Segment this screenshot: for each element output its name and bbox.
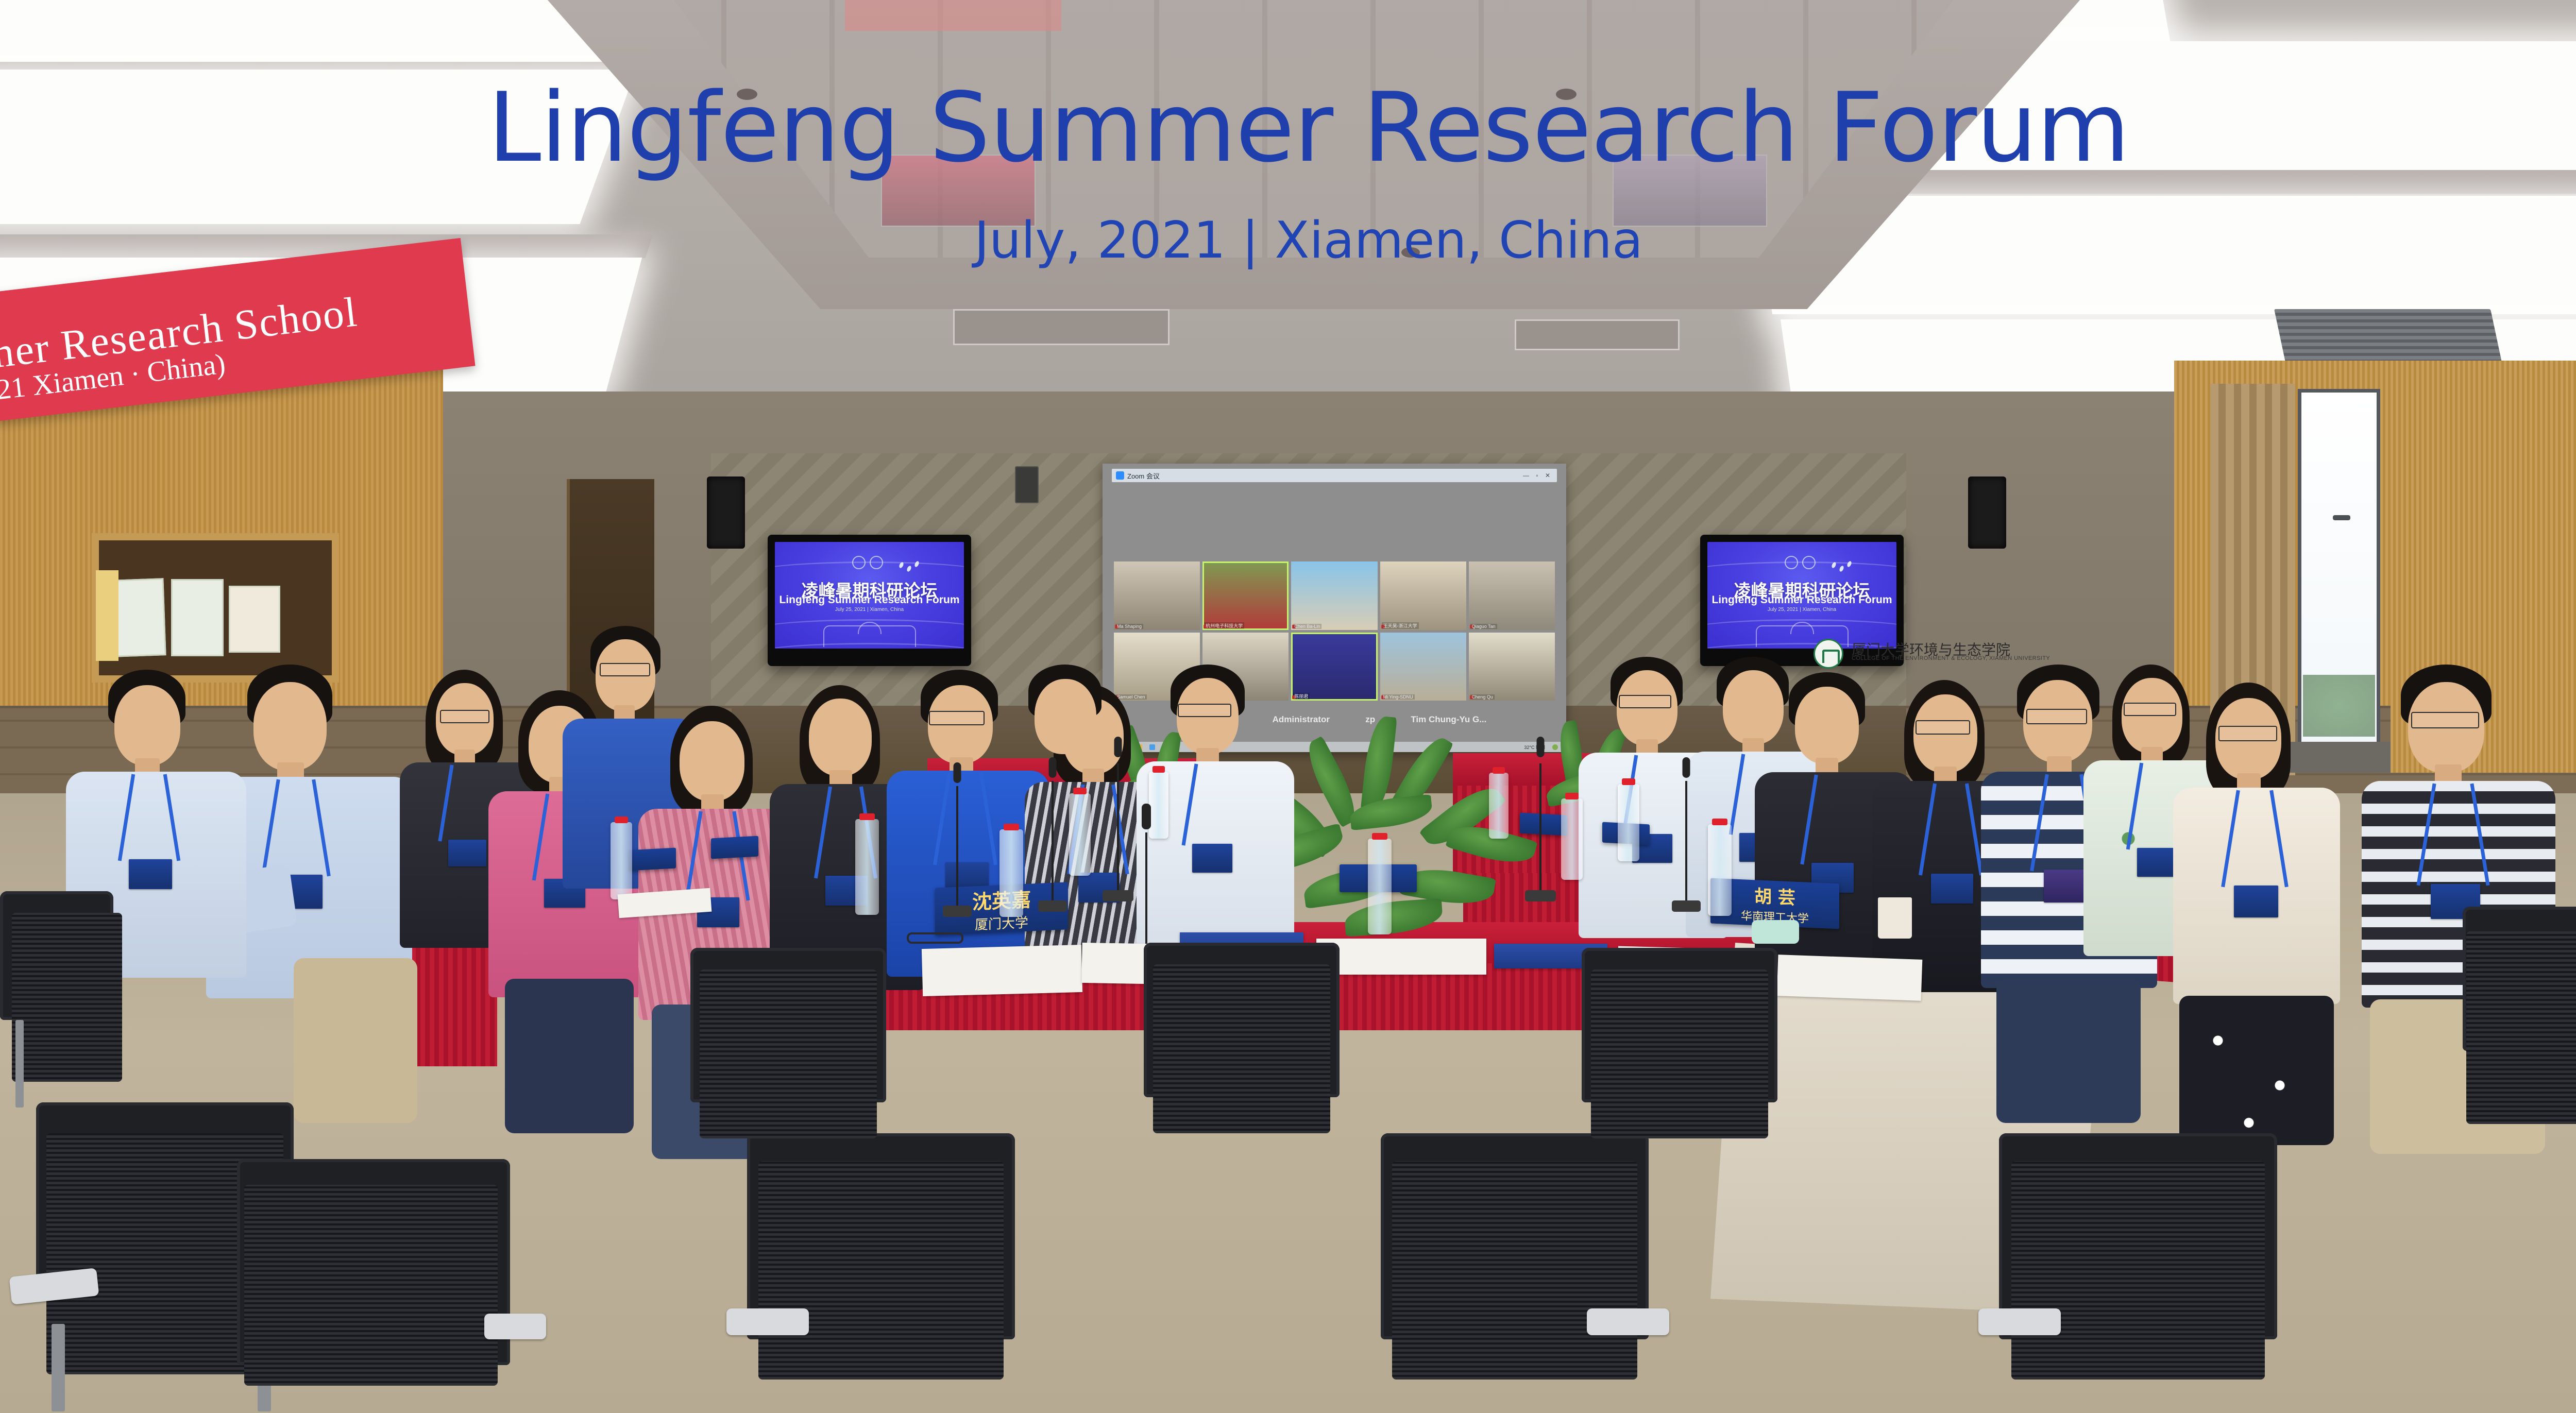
water-bottle xyxy=(1368,839,1392,934)
trophy-display-case xyxy=(92,533,339,683)
participant-tile[interactable]: Mi Ying-SDNU xyxy=(1380,633,1466,701)
glasses-icon xyxy=(2411,712,2479,728)
foreground-chair[interactable] xyxy=(1365,1133,1664,1413)
foreground-chair[interactable] xyxy=(732,1133,1030,1413)
tv-display-left: 凌峰暑期科研论坛 Lingfeng Summer Research Forum … xyxy=(768,535,971,666)
water-bottle xyxy=(1618,784,1639,861)
participant-name: Ma Shaping xyxy=(1115,624,1143,629)
mid-row-chair[interactable] xyxy=(1571,948,1788,1164)
page-title: Lingfeng Summer Research Forum xyxy=(0,80,2576,176)
glasses-icon xyxy=(929,711,985,725)
zoom-window-titlebar[interactable]: Zoom 会议 — ▫ ✕ xyxy=(1112,469,1557,482)
participant-tile[interactable]: Cheng Qu xyxy=(1469,633,1555,701)
participant-tile[interactable]: Chen Ba-Lin xyxy=(1291,561,1377,630)
tv-title-en: Lingfeng Summer Research Forum xyxy=(1707,594,1896,606)
participant-name: Chen Ba-Lin xyxy=(1293,624,1321,629)
participant-badge xyxy=(1931,874,1973,904)
foreground-chair[interactable] xyxy=(216,1159,526,1413)
side-chair[interactable] xyxy=(2452,907,2576,1154)
water-bottle xyxy=(611,822,632,899)
water-bottle xyxy=(855,819,879,915)
tv-slide-left: 凌峰暑期科研论坛 Lingfeng Summer Research Forum … xyxy=(775,542,964,649)
water-bottle xyxy=(1069,793,1091,876)
glasses-icon xyxy=(440,710,489,723)
participant-name: Mi Ying-SDNU xyxy=(1382,694,1415,700)
tv-date-line: July 25, 2021 | Xiamen, China xyxy=(775,607,964,612)
participant-badge xyxy=(2234,886,2278,917)
wall-sign-english: COLLEGE OF THE ENVIRONMENT & ECOLOGY, XI… xyxy=(1852,655,2050,661)
coffee-cup xyxy=(1878,897,1912,939)
zoom-window-title: Zoom 会议 xyxy=(1127,471,1160,481)
eyeglasses-on-table xyxy=(907,932,963,944)
microphone[interactable] xyxy=(1525,737,1556,901)
participant-tile[interactable]: 王天昊-浙江大学 xyxy=(1380,561,1466,630)
tv-slide-right: 凌峰暑期科研论坛 Lingfeng Summer Research Forum … xyxy=(1707,542,1896,649)
participant-name: Qiaguo Tan xyxy=(1470,624,1497,629)
microphone[interactable] xyxy=(1672,757,1701,912)
microphone[interactable] xyxy=(943,762,972,917)
participant-name: Cheng Qu xyxy=(1470,694,1495,700)
glasses-icon xyxy=(1916,720,1970,735)
tv-title-en: Lingfeng Summer Research Forum xyxy=(775,594,964,606)
participant-badge xyxy=(129,859,172,889)
tv-date-line: July 25, 2021 | Xiamen, China xyxy=(1707,607,1896,612)
participant-tile[interactable]: Ma Shaping xyxy=(1114,561,1200,630)
participant-tile[interactable]: Qiaguo Tan xyxy=(1469,561,1555,630)
slide-logo-icon xyxy=(870,556,883,569)
name-plate xyxy=(711,836,758,859)
document-sheet xyxy=(1777,955,1923,1001)
glasses-icon xyxy=(600,663,650,676)
foreground-chair[interactable] xyxy=(1984,1133,2293,1413)
window-handle-icon[interactable] xyxy=(2333,515,2350,520)
participant-tile[interactable]: 陈丽君 xyxy=(1291,633,1377,701)
mid-row-chair[interactable] xyxy=(1133,943,1350,1159)
glasses-icon xyxy=(2218,726,2277,741)
name-plate-name: 胡 芸 xyxy=(1754,882,1795,909)
window-controls[interactable]: — ▫ ✕ xyxy=(1523,472,1553,479)
zoom-app-icon xyxy=(1116,471,1124,480)
glasses-icon xyxy=(2026,709,2087,724)
slide-logo-icon xyxy=(1802,556,1816,569)
participant-badge xyxy=(448,840,486,866)
wall-speaker-right xyxy=(1968,476,2006,549)
page-subtitle: July, 2021 | Xiamen, China xyxy=(0,215,2576,266)
participant-tile[interactable]: 杭州电子科技大学 xyxy=(1202,561,1289,630)
participant-name: 王天昊-浙江大学 xyxy=(1382,622,1419,629)
wall-speaker-left xyxy=(707,476,745,549)
water-bottle xyxy=(1708,824,1732,916)
person-seated xyxy=(2169,683,2344,1146)
mid-row-chair[interactable] xyxy=(680,948,896,1164)
glasses-icon xyxy=(2124,703,2176,716)
glasses-icon xyxy=(1619,695,1671,708)
name-plate xyxy=(629,848,676,871)
participant-badge xyxy=(1192,844,1232,873)
water-bottle xyxy=(1489,773,1509,839)
water-bottle xyxy=(1561,798,1583,880)
participant-name: 杭州电子科技大学 xyxy=(1204,622,1244,629)
conference-group-photo: mer Research School 021 Xiamen · China) … xyxy=(0,0,2576,1413)
glasses-icon xyxy=(1178,704,1231,717)
microphone[interactable] xyxy=(1038,757,1067,912)
water-bottle xyxy=(999,829,1023,917)
document-sheet xyxy=(922,945,1082,996)
side-chair[interactable] xyxy=(0,891,134,1108)
wall-control-panel[interactable] xyxy=(1015,466,1039,503)
face-mask xyxy=(1752,920,1799,944)
